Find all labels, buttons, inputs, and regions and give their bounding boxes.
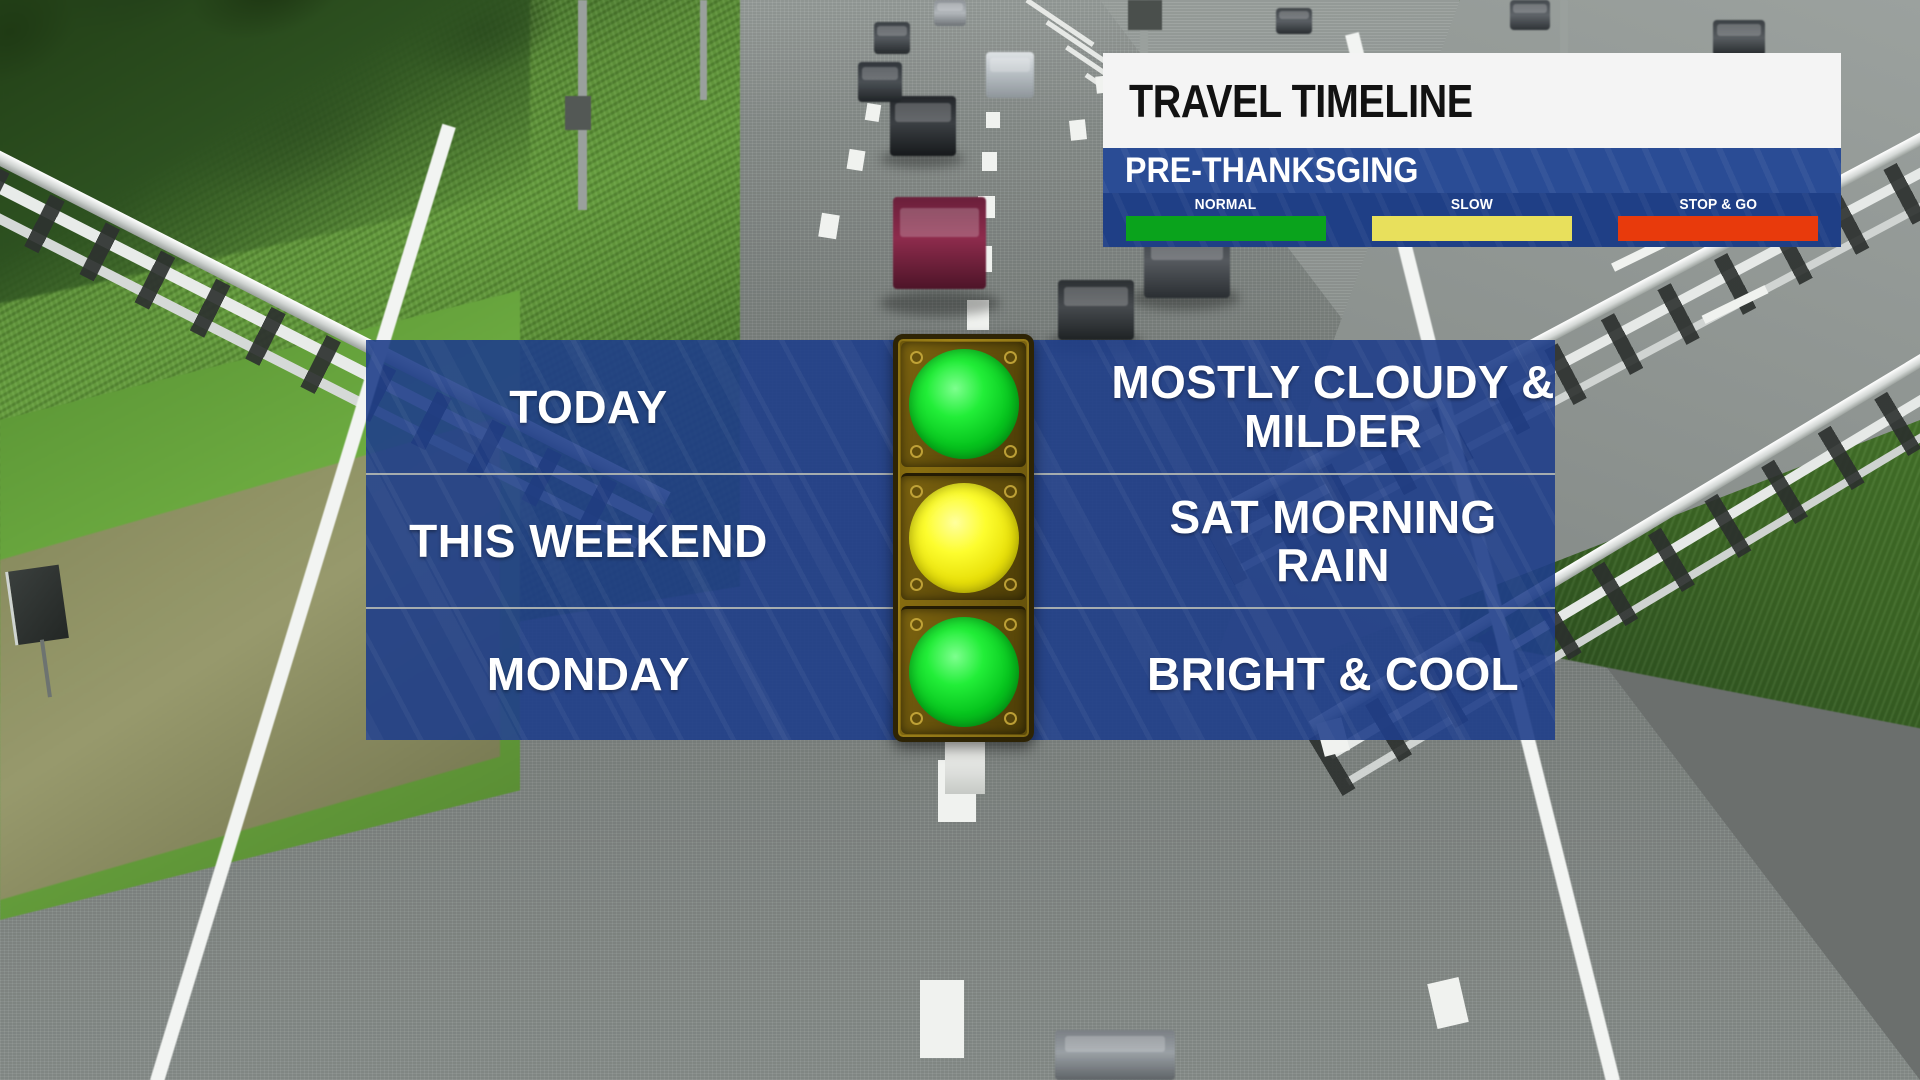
light-pole bbox=[700, 0, 707, 100]
forecast-condition-cell: BRIGHT & COOL bbox=[961, 650, 1555, 698]
vehicle bbox=[874, 22, 910, 54]
legend-item-slow: SLOW bbox=[1349, 193, 1595, 247]
forecast-day-cell: MONDAY bbox=[366, 647, 961, 701]
legend-label-normal: NORMAL bbox=[1195, 196, 1257, 213]
lane-dash bbox=[986, 112, 1000, 128]
bolt-icon bbox=[1004, 445, 1017, 458]
vehicle bbox=[890, 96, 956, 156]
travel-timeline-subtitle: PRE-THANKSGING bbox=[1125, 151, 1418, 191]
overhead-sign-box bbox=[1128, 0, 1162, 30]
lane-dash bbox=[920, 980, 964, 1058]
overhead-sign-box bbox=[565, 96, 591, 130]
traffic-light-icon bbox=[893, 334, 1034, 742]
bolt-icon bbox=[910, 712, 923, 725]
normal-swatch bbox=[1126, 216, 1326, 241]
forecast-day-label: TODAY bbox=[509, 380, 667, 434]
legend-label-stop-and-go: STOP & GO bbox=[1679, 196, 1757, 213]
travel-timeline-box: TRAVEL TIMELINE PRE-THANKSGING NORMAL SL… bbox=[1103, 53, 1841, 247]
vehicle bbox=[934, 0, 966, 26]
forecast-condition-label: MOSTLY CLOUDY & MILDER bbox=[1111, 358, 1555, 455]
legend-label-slow: SLOW bbox=[1451, 196, 1493, 213]
stop-and-go-swatch bbox=[1618, 216, 1818, 241]
vehicle bbox=[1058, 280, 1134, 340]
travel-timeline-subheader: PRE-THANKSGING bbox=[1103, 148, 1841, 193]
bolt-icon bbox=[910, 351, 923, 364]
lane-dash bbox=[865, 103, 881, 122]
bolt-icon bbox=[1004, 618, 1017, 631]
traffic-light-pole bbox=[945, 742, 985, 794]
roadside-sign bbox=[5, 565, 69, 646]
bolt-icon bbox=[1004, 578, 1017, 591]
vehicle bbox=[858, 62, 902, 102]
lane-dash bbox=[847, 149, 866, 171]
forecast-condition-label: BRIGHT & COOL bbox=[1147, 650, 1519, 698]
slow-swatch bbox=[1372, 216, 1572, 241]
vehicle bbox=[986, 52, 1034, 98]
forecast-condition-cell: MOSTLY CLOUDY & MILDER bbox=[961, 358, 1555, 455]
vehicle bbox=[1713, 20, 1765, 56]
bolt-icon bbox=[1004, 351, 1017, 364]
legend-item-stop-and-go: STOP & GO bbox=[1595, 193, 1841, 247]
vehicle bbox=[1510, 0, 1550, 30]
bolt-icon bbox=[1004, 485, 1017, 498]
forecast-day-cell: THIS WEEKEND bbox=[366, 514, 961, 568]
signal-lamp-yellow bbox=[909, 483, 1019, 593]
legend-item-normal: NORMAL bbox=[1103, 193, 1349, 247]
forecast-day-label: MONDAY bbox=[487, 647, 690, 701]
signal-lamp-green bbox=[909, 617, 1019, 727]
lane-dash bbox=[818, 213, 840, 240]
signal-lamp-green bbox=[909, 349, 1019, 459]
bolt-icon bbox=[910, 445, 923, 458]
traffic-light-section-bottom bbox=[901, 606, 1026, 734]
traffic-light-section-middle bbox=[901, 473, 1026, 601]
travel-timeline-header: TRAVEL TIMELINE bbox=[1103, 53, 1841, 148]
lane-dash bbox=[1069, 119, 1087, 141]
forecast-condition-label: SAT MORNING RAIN bbox=[1111, 493, 1555, 590]
bolt-icon bbox=[1004, 712, 1017, 725]
travel-timeline-legend: NORMAL SLOW STOP & GO bbox=[1103, 193, 1841, 247]
bolt-icon bbox=[910, 485, 923, 498]
bolt-icon bbox=[910, 618, 923, 631]
bolt-icon bbox=[910, 578, 923, 591]
lane-dash bbox=[982, 152, 997, 171]
travel-timeline-title: TRAVEL TIMELINE bbox=[1129, 74, 1473, 128]
vehicle bbox=[1055, 1030, 1175, 1080]
forecast-day-label: THIS WEEKEND bbox=[409, 514, 768, 568]
forecast-day-cell: TODAY bbox=[366, 380, 961, 434]
forecast-condition-cell: SAT MORNING RAIN bbox=[961, 493, 1555, 590]
traffic-light-section-top bbox=[901, 342, 1026, 467]
screenshot-stage: TRAVEL TIMELINE PRE-THANKSGING NORMAL SL… bbox=[0, 0, 1920, 1080]
vehicle bbox=[893, 197, 986, 289]
vehicle bbox=[1276, 8, 1312, 34]
vehicle-shadow bbox=[880, 290, 1000, 316]
